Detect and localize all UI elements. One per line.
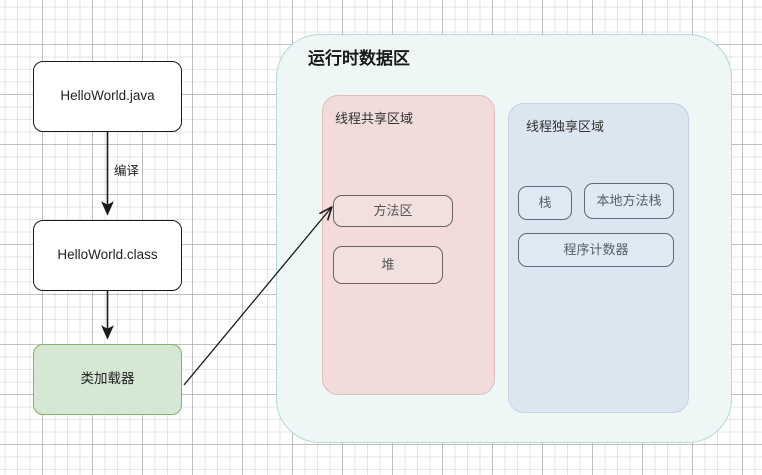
box-source-file[interactable]: HelloWorld.java [33,61,182,132]
page-title: 运行时数据区 [308,44,410,69]
region-thread-shared-label: 线程共享区域 [335,108,413,127]
box-method-area[interactable]: 方法区 [333,195,453,227]
box-program-counter[interactable]: 程序计数器 [518,233,674,267]
box-class-loader[interactable]: 类加载器 [33,344,182,415]
box-stack[interactable]: 栈 [518,186,572,220]
box-class-file[interactable]: HelloWorld.class [33,220,182,291]
edge-label-compile: 编译 [114,160,139,179]
diagram-canvas: 运行时数据区 线程共享区域 方法区 堆 线程独享区域 栈 本地方法栈 程序计数器… [0,0,762,475]
region-thread-shared[interactable] [322,95,495,395]
box-native-method-stack[interactable]: 本地方法栈 [584,183,674,219]
region-thread-private-label: 线程独享区域 [526,116,604,135]
box-heap[interactable]: 堆 [333,246,443,284]
